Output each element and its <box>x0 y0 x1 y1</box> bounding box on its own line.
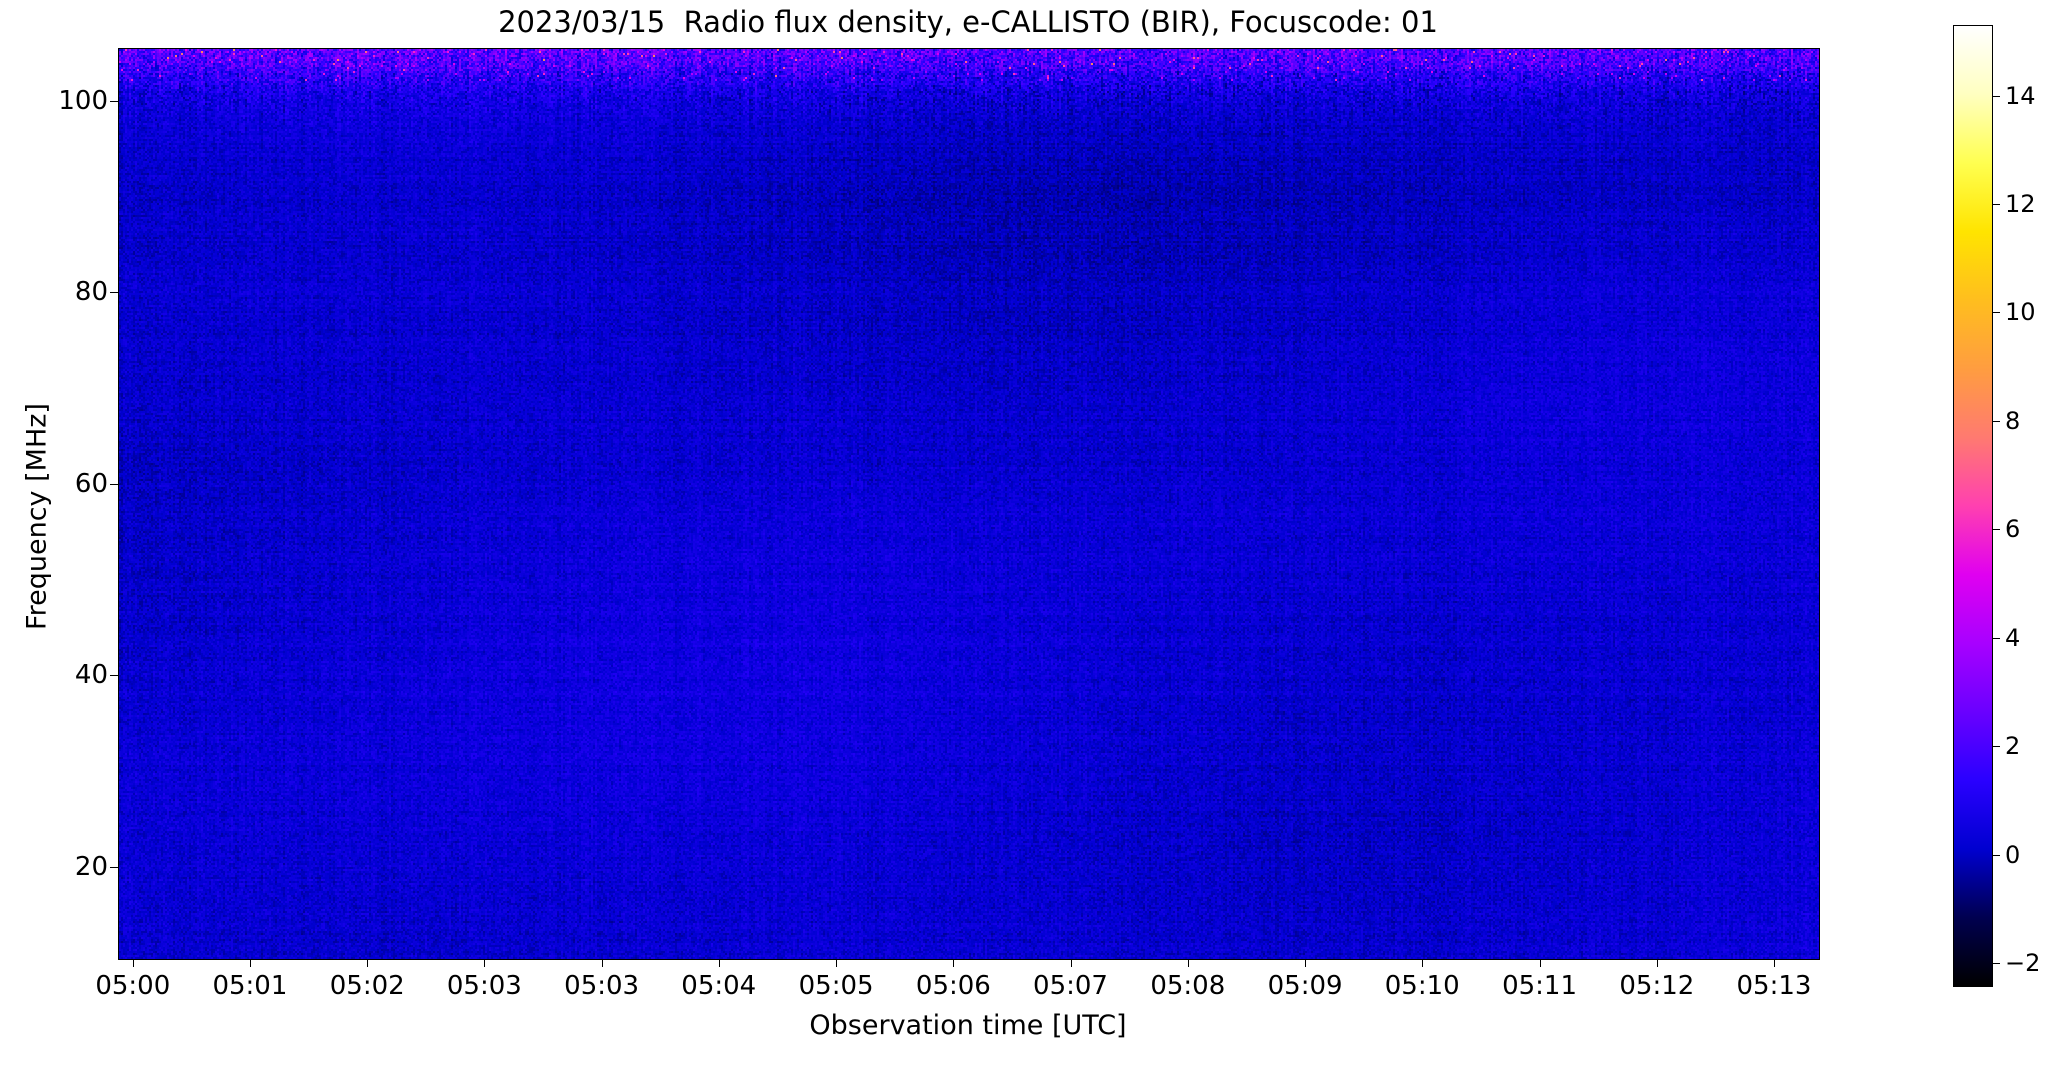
x-tick-mark <box>719 959 720 967</box>
x-tick-mark <box>1188 959 1189 967</box>
spectrogram-image <box>119 49 1819 959</box>
x-tick-mark <box>484 959 485 967</box>
x-tick-mark <box>836 959 837 967</box>
colorbar-tick-mark <box>1992 96 2000 97</box>
x-axis-label: Observation time [UTC] <box>118 1012 1818 1039</box>
y-tick-mark <box>110 867 118 868</box>
x-tick-mark <box>953 959 954 967</box>
y-tick-mark <box>110 292 118 293</box>
colorbar-tick-mark <box>1992 855 2000 856</box>
spectrogram-plot-area[interactable] <box>118 48 1820 960</box>
x-tick-mark <box>1422 959 1423 967</box>
colorbar-tick-label: −2 <box>2005 951 2040 975</box>
x-tick-mark <box>250 959 251 967</box>
colorbar-tick-label: 8 <box>2005 409 2020 433</box>
y-axis-label: Frequency [MHz] <box>24 62 51 972</box>
x-tick-mark <box>1071 959 1072 967</box>
x-tick-mark <box>1774 959 1775 967</box>
page-title: 2023/03/15 Radio flux density, e-CALLIST… <box>118 2 1818 42</box>
colorbar[interactable] <box>1953 25 1993 987</box>
colorbar-tick-mark <box>1992 638 2000 639</box>
colorbar-axis: 14121086420−2 <box>1992 25 2062 985</box>
figure-canvas: 2023/03/15 Radio flux density, e-CALLIST… <box>0 0 2066 1067</box>
colorbar-tick-label: 6 <box>2005 517 2020 541</box>
colorbar-tick-label: 4 <box>2005 626 2020 650</box>
y-axis: 10080604020 <box>0 48 108 958</box>
colorbar-tick-mark <box>1992 963 2000 964</box>
colorbar-gradient <box>1954 26 1992 986</box>
x-tick-mark <box>367 959 368 967</box>
x-tick-mark <box>602 959 603 967</box>
x-tick-mark <box>1657 959 1658 967</box>
colorbar-tick-mark <box>1992 421 2000 422</box>
y-tick-mark <box>110 484 118 485</box>
x-tick-mark <box>1305 959 1306 967</box>
x-tick-mark <box>133 959 134 967</box>
x-tick-mark <box>1540 959 1541 967</box>
colorbar-tick-mark <box>1992 312 2000 313</box>
colorbar-tick-label: 0 <box>2005 843 2020 867</box>
colorbar-tick-label: 10 <box>2005 300 2036 324</box>
x-tick-label: 05:13 <box>1694 973 1854 999</box>
colorbar-tick-mark <box>1992 529 2000 530</box>
colorbar-tick-label: 2 <box>2005 734 2020 758</box>
y-tick-mark <box>110 675 118 676</box>
x-axis: 05:0005:0105:0205:0305:0305:0405:0505:06… <box>118 959 1818 999</box>
colorbar-tick-mark <box>1992 204 2000 205</box>
colorbar-tick-mark <box>1992 746 2000 747</box>
colorbar-tick-label: 14 <box>2005 84 2036 108</box>
colorbar-tick-label: 12 <box>2005 192 2036 216</box>
y-tick-mark <box>110 101 118 102</box>
